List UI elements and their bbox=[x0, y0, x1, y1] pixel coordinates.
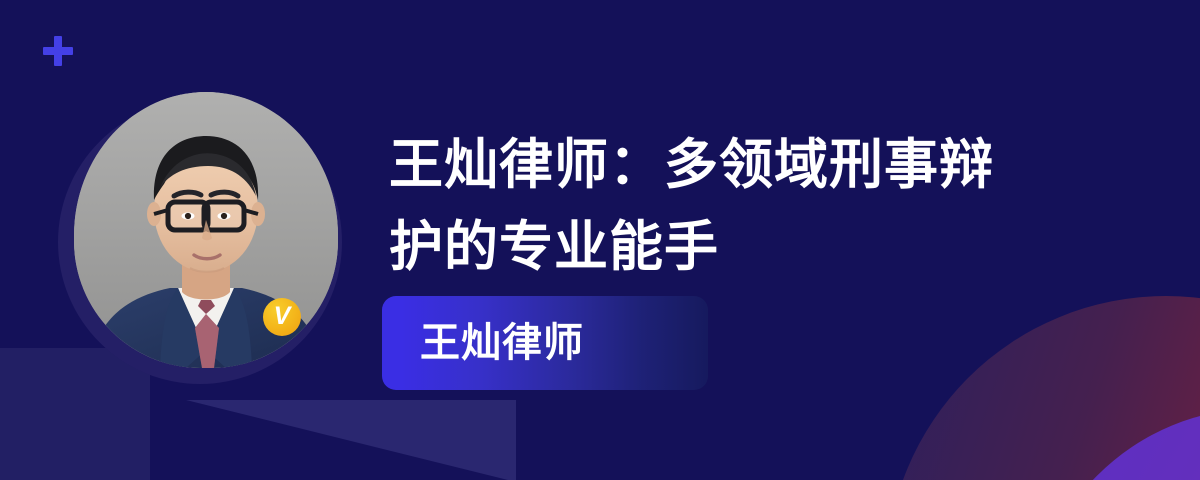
lawyer-profile-banner: V 王灿律师：多领域刑事辩 护的专业能手 王灿律师 bbox=[0, 0, 1200, 480]
page-title: 王灿律师：多领域刑事辩 护的专业能手 bbox=[389, 124, 1089, 288]
background-violet-circle bbox=[1030, 408, 1200, 480]
background-crimson-arc bbox=[886, 296, 1200, 480]
plus-icon bbox=[43, 36, 73, 66]
lawyer-name-button[interactable]: 王灿律师 bbox=[382, 296, 708, 390]
verified-badge-mark: V bbox=[274, 304, 291, 329]
avatar: V bbox=[58, 92, 348, 392]
lawyer-name-button-label: 王灿律师 bbox=[420, 323, 584, 363]
verified-badge-icon: V bbox=[263, 298, 301, 336]
background-triangle-shape bbox=[186, 400, 516, 480]
